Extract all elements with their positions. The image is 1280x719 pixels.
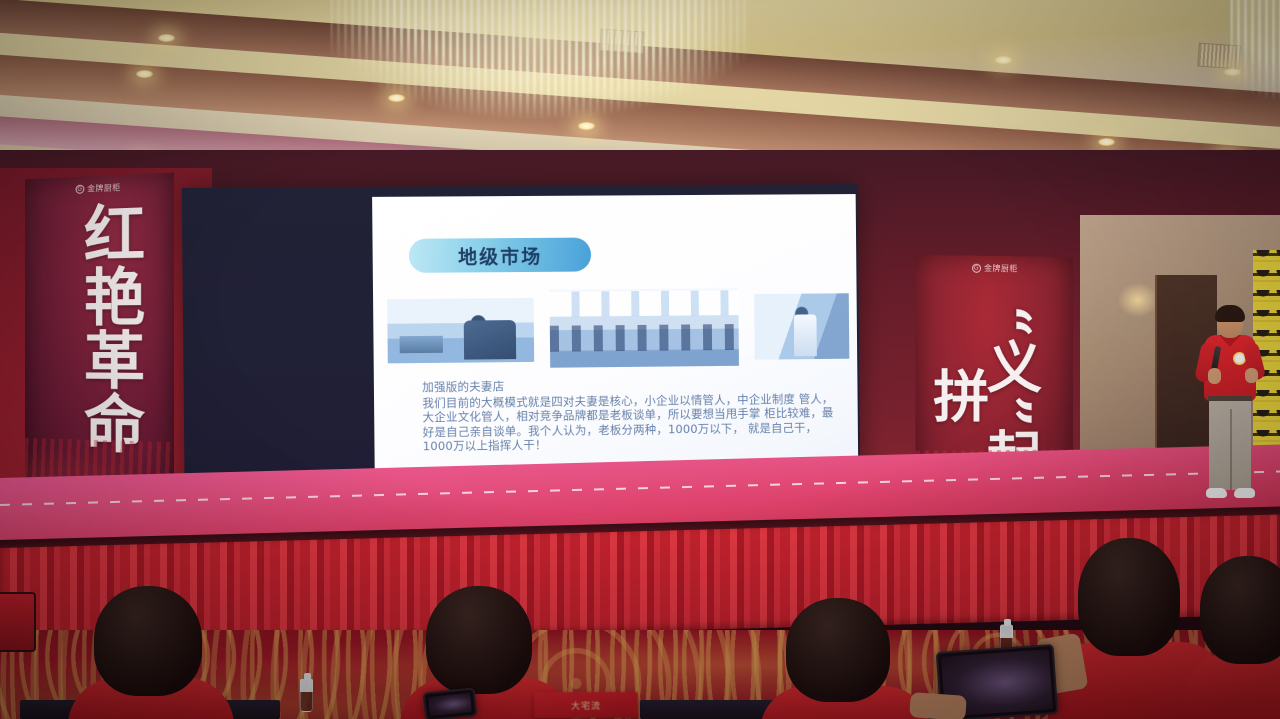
chair-back (0, 592, 36, 652)
audience-head (426, 586, 532, 694)
presenter-trousers (1209, 398, 1251, 490)
presenter-right-shoe (1234, 488, 1255, 498)
slide-body-text: 加强版的夫妻店 我们目前的大概模式就是四对夫妻是核心，小企业以情管人，中企业制度… (422, 376, 840, 455)
smartphone-secondary[interactable] (423, 687, 478, 719)
brand-logo-left: G 金牌厨柜 (25, 180, 174, 197)
ceiling-spot-light (578, 122, 595, 130)
presenter-belt (1208, 396, 1252, 401)
ceiling-spot-light (1224, 68, 1241, 76)
water-bottle[interactable] (300, 678, 313, 712)
ceiling-spot-light (1098, 138, 1115, 146)
audience-member-1 (72, 586, 224, 719)
audience-hand-lower (909, 692, 967, 719)
presenter-hair (1215, 305, 1245, 322)
brand-name-left: 金牌厨柜 (87, 182, 120, 194)
slide-photo-woman-walking (754, 293, 849, 359)
banner-left: G 金牌厨柜 红艳革命 (25, 173, 174, 506)
led-screen: 地级市场 加强版的夫妻店 我们目前的大概模式就是四对夫妻是核心，小企业以情管人，… (182, 184, 861, 502)
slide-photo-row (381, 287, 849, 369)
table-placard: 大宅流 (534, 692, 638, 718)
presenter-left-shoe (1206, 488, 1227, 498)
ceiling-spot-light (136, 70, 153, 78)
audience-head (94, 586, 202, 696)
audience-head (1200, 556, 1280, 664)
brand-logo-mark-icon: G (972, 264, 981, 273)
ceiling-spot-light (158, 34, 175, 42)
audience-head (1078, 538, 1180, 656)
slide-title-badge: 地级市场 (409, 238, 591, 273)
brand-logo-right: G 金牌厨柜 (916, 262, 1073, 275)
ceiling-spot-light (995, 56, 1012, 64)
ceiling-spot-light (388, 94, 405, 102)
conference-hall-scene: G 金牌厨柜 红艳革命 G 金牌厨柜 “义”起拼 地级市场 加强版的夫妻店 (0, 0, 1280, 719)
presenter-right-hand (1245, 368, 1258, 383)
audience-head (786, 598, 890, 702)
slide-photo-man-reading (387, 298, 534, 363)
slide-photo-office (549, 288, 739, 368)
wall-sconce-light (1118, 283, 1158, 317)
presentation-slide: 地级市场 加强版的夫妻店 我们目前的大概模式就是四对夫妻是核心，小企业以情管人，… (372, 194, 858, 494)
audience-member-3 (772, 598, 912, 719)
presenter-left-hand (1208, 368, 1221, 384)
crystal-chandelier-secondary-icon (1230, 0, 1280, 100)
audience-member-5 (1190, 556, 1280, 719)
slide-title-text: 地级市场 (458, 241, 542, 269)
brand-logo-mark-icon: G (76, 185, 85, 194)
presenter (1196, 308, 1264, 508)
brand-name-right: 金牌厨柜 (984, 263, 1018, 274)
banner-left-headline: 红艳革命 (63, 201, 138, 456)
